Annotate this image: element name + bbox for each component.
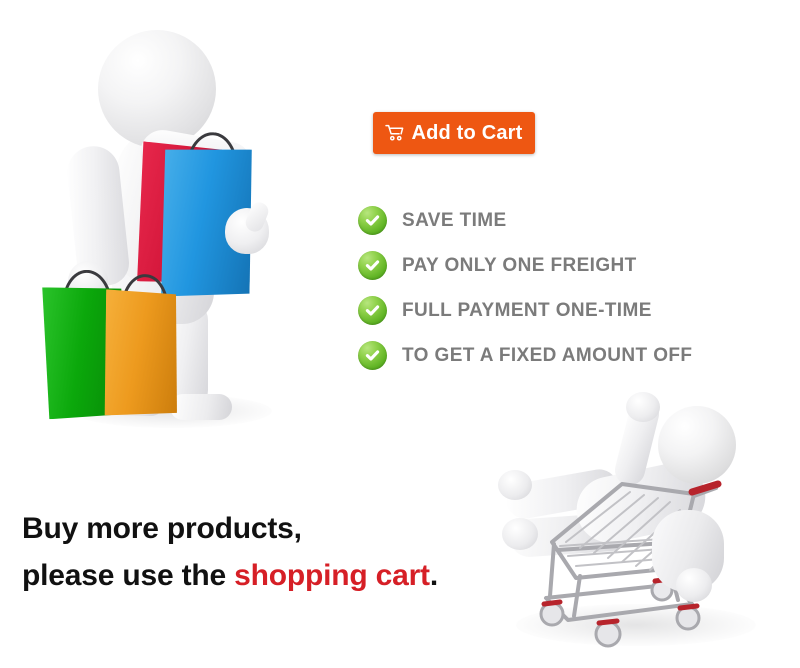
shopping-cart-icon bbox=[385, 124, 404, 141]
rider-lower-hand bbox=[676, 568, 712, 602]
benefit-item-one-freight: PAY ONLY ONE FREIGHT bbox=[358, 243, 758, 288]
tagline-line-1: Buy more products, bbox=[22, 506, 438, 553]
shopper-illustration bbox=[20, 18, 330, 418]
shopper-right-foot bbox=[170, 394, 232, 420]
benefits-list: SAVE TIME PAY ONLY ONE FREIGHT FULL PAYM… bbox=[358, 198, 758, 378]
benefit-item-fixed-amount-off: TO GET A FIXED AMOUNT OFF bbox=[358, 333, 758, 378]
promo-banner: Add to Cart SAVE TIME PAY ONLY ONE FREIG… bbox=[0, 0, 800, 668]
green-check-circle-icon bbox=[358, 296, 387, 325]
green-check-circle-icon bbox=[358, 251, 387, 280]
orange-shopping-bag bbox=[101, 289, 179, 416]
tagline-line-2-prefix: please use the bbox=[22, 559, 234, 592]
tagline-line-2-suffix: . bbox=[430, 559, 438, 592]
green-check-circle-icon bbox=[358, 206, 387, 235]
cart-rider-illustration bbox=[480, 392, 800, 660]
tagline-line-2: please use the shopping cart. bbox=[22, 553, 438, 600]
benefit-label: SAVE TIME bbox=[402, 210, 507, 232]
green-check-circle-icon bbox=[358, 341, 387, 370]
benefit-label: PAY ONLY ONE FREIGHT bbox=[402, 255, 637, 277]
benefit-label: FULL PAYMENT ONE-TIME bbox=[402, 300, 652, 322]
benefit-item-save-time: SAVE TIME bbox=[358, 198, 758, 243]
tagline: Buy more products, please use the shoppi… bbox=[22, 506, 438, 599]
add-to-cart-button[interactable]: Add to Cart bbox=[373, 112, 535, 154]
benefit-label: TO GET A FIXED AMOUNT OFF bbox=[402, 345, 692, 367]
orange-bag-body bbox=[101, 289, 179, 416]
benefit-item-full-payment: FULL PAYMENT ONE-TIME bbox=[358, 288, 758, 333]
add-to-cart-label: Add to Cart bbox=[411, 122, 522, 145]
tagline-accent: shopping cart bbox=[234, 559, 430, 592]
shopping-cart-frame bbox=[480, 392, 800, 660]
